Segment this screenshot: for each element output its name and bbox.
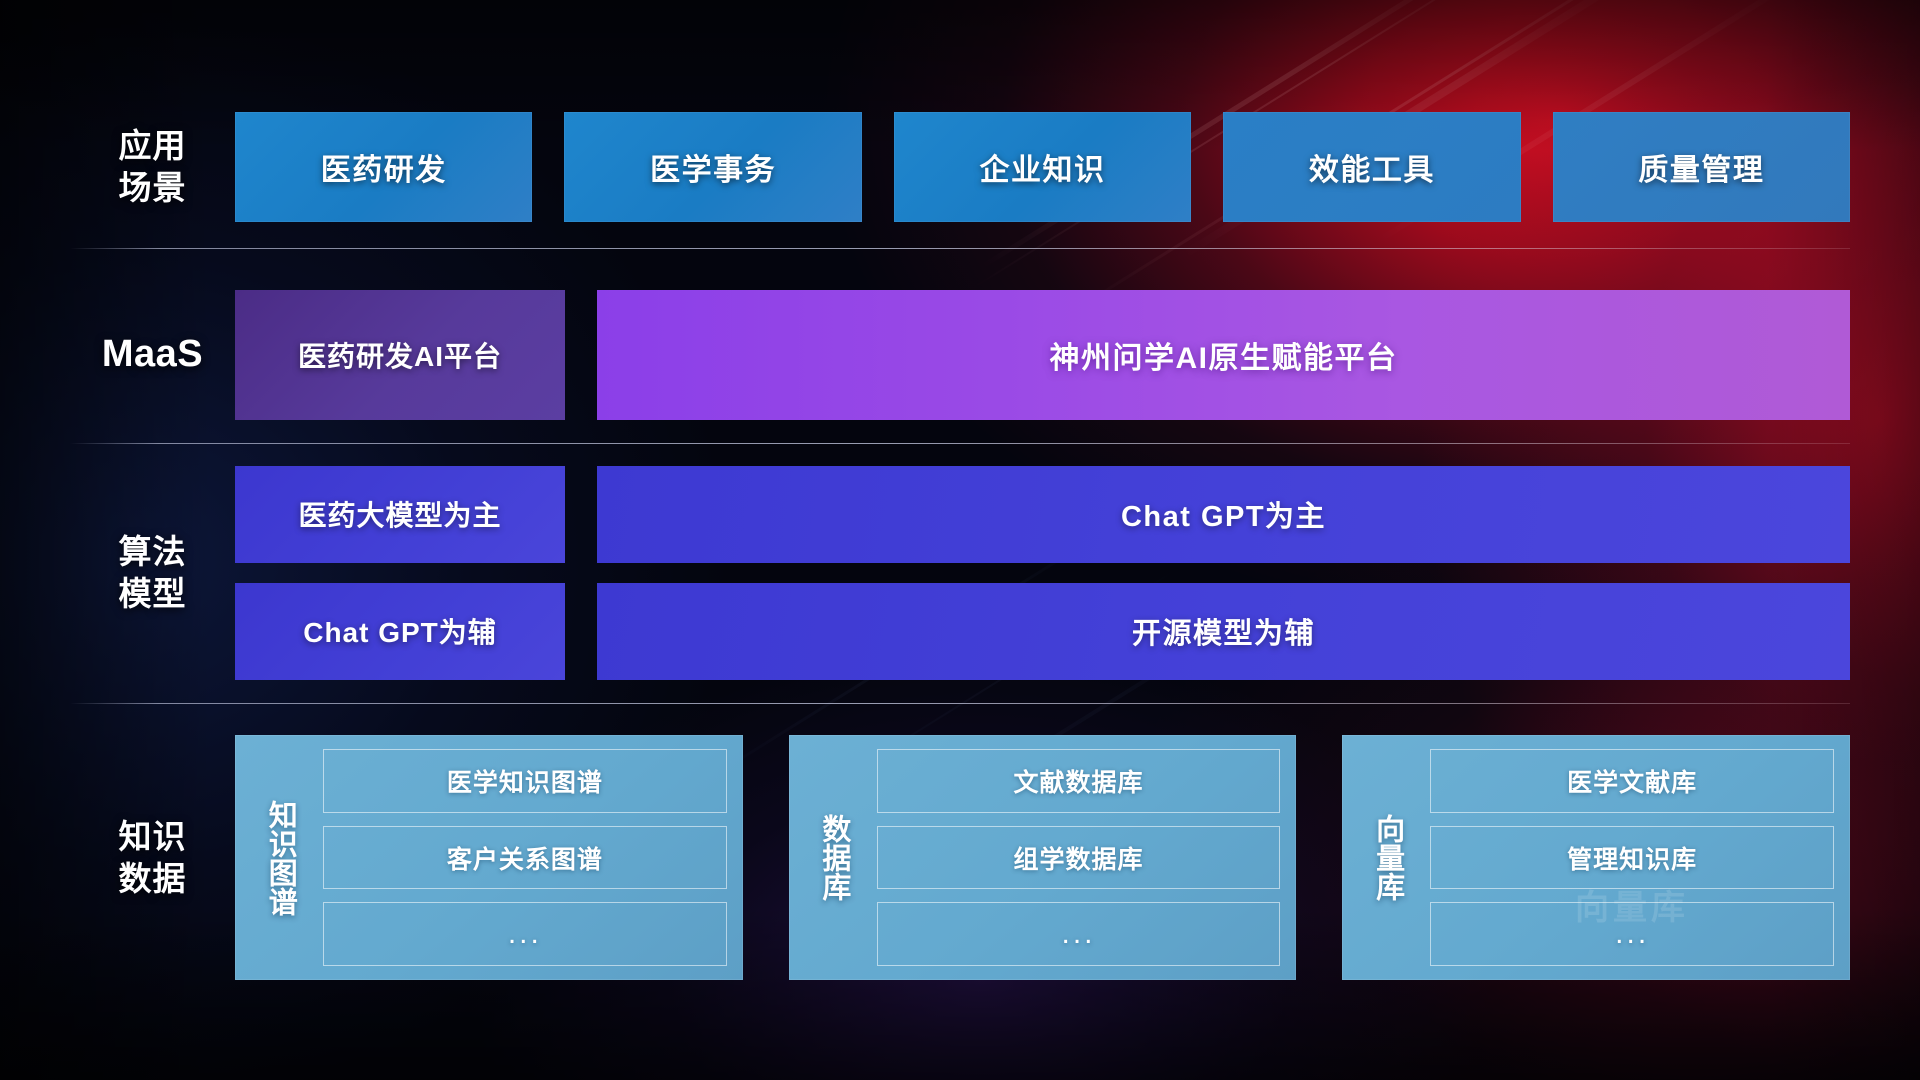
knowledge-panel-title: 向量库 <box>1358 749 1416 966</box>
knowledge-panel-title: 知识图谱 <box>251 749 309 966</box>
row-maas: MaaS 医药研发AI平台 神州问学AI原生赋能平台 <box>70 290 1850 420</box>
knowledge-item-omics-database[interactable]: 组学数据库 <box>877 826 1281 890</box>
knowledge-item-medical-knowledge-graph[interactable]: 医学知识图谱 <box>323 749 727 813</box>
knowledge-item-literature-database[interactable]: 文献数据库 <box>877 749 1281 813</box>
knowledge-panel-database[interactable]: 数据库 文献数据库 组学数据库 ... <box>789 735 1297 980</box>
application-card-enterprise-knowledge[interactable]: 企业知识 <box>894 112 1191 222</box>
row-label-algorithms: 算法 模型 <box>70 531 235 614</box>
knowledge-item-list: 文献数据库 组学数据库 ... <box>877 749 1281 966</box>
knowledge-panel-vector-store[interactable]: 向量库 医学文献库 管理知识库 ... <box>1342 735 1850 980</box>
knowledge-item-more[interactable]: ... <box>877 902 1281 966</box>
row-algorithms: 算法 模型 医药大模型为主 Chat GPT为主 Chat GPT为辅 开源模型… <box>70 465 1850 680</box>
algorithm-line-secondary: Chat GPT为辅 开源模型为辅 <box>235 583 1850 680</box>
knowledge-item-list: 医学文献库 管理知识库 ... <box>1430 749 1834 966</box>
architecture-diagram: 应用 场景 医药研发 医学事务 企业知识 效能工具 质量管理 MaaS 医药研发… <box>0 0 1920 1080</box>
algorithm-card-medicine-llm-primary[interactable]: 医药大模型为主 <box>235 466 565 563</box>
application-card-quality-management[interactable]: 质量管理 <box>1553 112 1850 222</box>
knowledge-panel-title: 数据库 <box>805 749 863 966</box>
knowledge-item-more[interactable]: ... <box>323 902 727 966</box>
knowledge-item-medical-literature-store[interactable]: 医学文献库 <box>1430 749 1834 813</box>
application-card-medicine-rd[interactable]: 医药研发 <box>235 112 532 222</box>
row-knowledge-data: 知识 数据 知识图谱 医学知识图谱 客户关系图谱 ... 数据库 文献数据库 组… <box>70 735 1850 980</box>
maas-card-medicine-ai-platform[interactable]: 医药研发AI平台 <box>235 290 565 420</box>
application-card-efficiency-tools[interactable]: 效能工具 <box>1223 112 1520 222</box>
application-card-list: 医药研发 医学事务 企业知识 效能工具 质量管理 <box>235 112 1850 222</box>
knowledge-item-list: 医学知识图谱 客户关系图谱 ... <box>323 749 727 966</box>
row-label-applications: 应用 场景 <box>70 125 235 208</box>
algorithm-bar-group: 医药大模型为主 Chat GPT为主 Chat GPT为辅 开源模型为辅 <box>235 466 1850 680</box>
knowledge-panel-group: 知识图谱 医学知识图谱 客户关系图谱 ... 数据库 文献数据库 组学数据库 .… <box>235 735 1850 980</box>
algorithm-card-chatgpt-primary[interactable]: Chat GPT为主 <box>597 466 1850 563</box>
knowledge-item-customer-relation-graph[interactable]: 客户关系图谱 <box>323 826 727 890</box>
application-card-medical-affairs[interactable]: 医学事务 <box>564 112 861 222</box>
maas-card-shenzhou-wenxue-platform[interactable]: 神州问学AI原生赋能平台 <box>597 290 1850 420</box>
diagram-stage: 应用 场景 医药研发 医学事务 企业知识 效能工具 质量管理 MaaS 医药研发… <box>0 0 1920 1080</box>
knowledge-item-management-knowledge-store[interactable]: 管理知识库 <box>1430 826 1834 890</box>
algorithm-card-chatgpt-secondary[interactable]: Chat GPT为辅 <box>235 583 565 680</box>
row-label-maas: MaaS <box>70 331 235 379</box>
algorithm-line-primary: 医药大模型为主 Chat GPT为主 <box>235 466 1850 563</box>
row-label-knowledge-data: 知识 数据 <box>70 816 235 899</box>
knowledge-panel-knowledge-graph[interactable]: 知识图谱 医学知识图谱 客户关系图谱 ... <box>235 735 743 980</box>
row-applications: 应用 场景 医药研发 医学事务 企业知识 效能工具 质量管理 <box>70 112 1850 222</box>
knowledge-item-more[interactable]: ... <box>1430 902 1834 966</box>
maas-bar-group: 医药研发AI平台 神州问学AI原生赋能平台 <box>235 290 1850 420</box>
algorithm-card-opensource-secondary[interactable]: 开源模型为辅 <box>597 583 1850 680</box>
